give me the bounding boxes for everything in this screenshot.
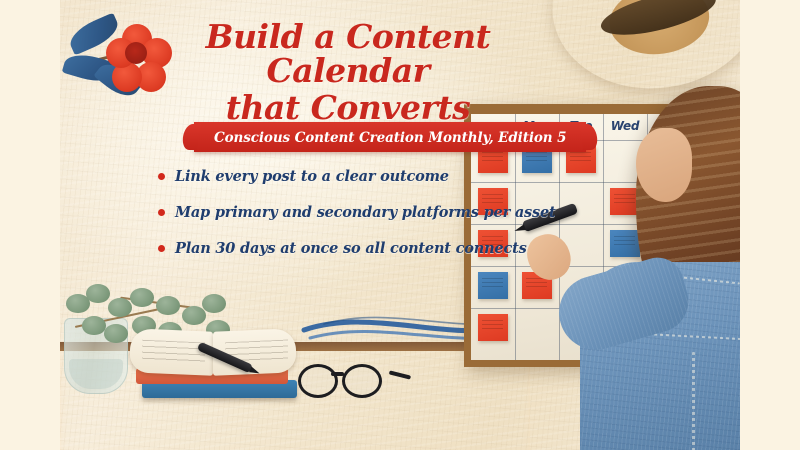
bullet-text: Link every post to a clear outcome — [175, 168, 449, 185]
eucalyptus-leaf — [108, 298, 132, 317]
newsletter-poster: Mon Tue Wed Wed Thu Build a Content C — [0, 0, 800, 450]
notebook-page-left — [130, 328, 213, 376]
eucalyptus-leaf — [104, 324, 128, 343]
headline-line-2: that Converts — [138, 91, 558, 125]
face — [636, 128, 692, 202]
eucalyptus-leaf — [182, 306, 206, 325]
sticky-note-red[interactable] — [478, 314, 508, 341]
eyeglasses — [298, 360, 394, 394]
eucalyptus-leaf — [86, 284, 110, 303]
list-item: Link every post to a clear outcome — [158, 168, 556, 185]
list-item: Plan 30 days at once so all content conn… — [158, 240, 556, 257]
person-at-calendar — [580, 86, 740, 450]
edition-ribbon: Conscious Content Creation Monthly, Edit… — [194, 122, 586, 152]
bullet-text: Map primary and secondary platforms per … — [175, 204, 556, 221]
bullet-list: Link every post to a clear outcomeMap pr… — [158, 168, 556, 276]
sticky-note-blue[interactable] — [478, 272, 508, 299]
eucalyptus-leaf — [82, 316, 106, 335]
eucalyptus-leaf — [130, 288, 154, 307]
bullet-dot-icon — [158, 245, 165, 252]
headline-line-1: Build a Content Calendar — [138, 20, 558, 89]
glasses-lens — [342, 364, 382, 398]
ribbon-label: Conscious Content Creation Monthly, Edit… — [214, 130, 566, 146]
bullet-dot-icon — [158, 209, 165, 216]
ribbon-shape: Conscious Content Creation Monthly, Edit… — [194, 122, 586, 152]
page-title: Build a Content Calendar that Converts — [138, 20, 558, 125]
jacket-seam — [692, 352, 695, 450]
bullet-dot-icon — [158, 173, 165, 180]
artwork-panel: Mon Tue Wed Wed Thu Build a Content C — [60, 0, 740, 450]
eucalyptus-leaf — [202, 294, 226, 313]
eucalyptus-leaf — [156, 296, 180, 315]
glasses-lens — [298, 364, 338, 398]
jacket-seam — [642, 333, 740, 341]
list-item: Map primary and secondary platforms per … — [158, 204, 556, 221]
bullet-text: Plan 30 days at once so all content conn… — [175, 240, 527, 257]
glasses-bridge — [331, 372, 344, 376]
page-lines — [142, 340, 205, 366]
